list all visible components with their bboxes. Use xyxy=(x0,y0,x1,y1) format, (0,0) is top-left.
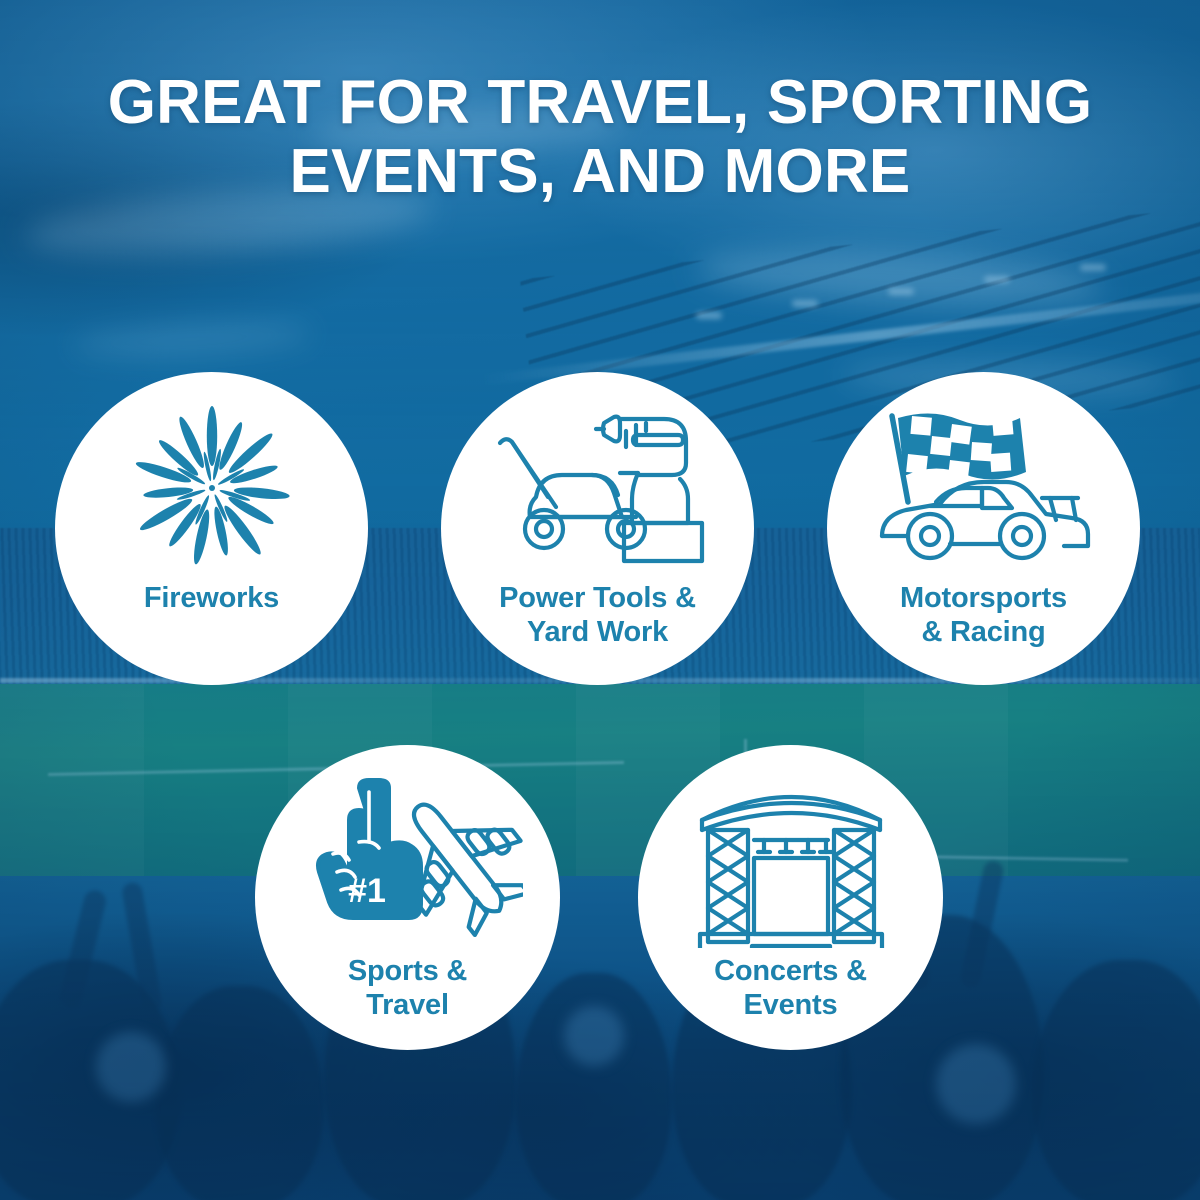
page-title: GREAT FOR TRAVEL, SPORTING EVENTS, AND M… xyxy=(0,68,1200,207)
lawn-mower-and-drill-icon xyxy=(478,406,718,576)
foam-finger-and-airplane-icon: #1 xyxy=(293,775,523,951)
headline-line-1: GREAT FOR TRAVEL, SPORTING xyxy=(70,68,1130,137)
foam-finger-number: #1 xyxy=(348,872,386,910)
category-bubble-power-tools[interactable]: Power Tools & Yard Work xyxy=(441,372,754,685)
concert-stage-icon xyxy=(686,775,896,951)
category-label: Motorsports & Racing xyxy=(900,582,1067,649)
category-label: Concerts & Events xyxy=(714,955,867,1022)
category-label-line: Travel xyxy=(348,989,467,1023)
category-bubble-sports-travel[interactable]: #1 xyxy=(255,745,560,1050)
headline-line-2: EVENTS, AND MORE xyxy=(70,137,1130,206)
category-label-line: Events xyxy=(714,989,867,1023)
promo-poster: GREAT FOR TRAVEL, SPORTING EVENTS, AND M… xyxy=(0,0,1200,1200)
category-label: Power Tools & Yard Work xyxy=(499,582,696,649)
category-label: Fireworks xyxy=(144,582,279,616)
checkered-flag-and-race-car-icon xyxy=(864,406,1104,576)
category-bubble-motorsports[interactable]: Motorsports & Racing xyxy=(827,372,1140,685)
category-label-line: Fireworks xyxy=(144,582,279,616)
category-label-line: Power Tools & xyxy=(499,582,696,616)
category-label-line: Sports & xyxy=(348,955,467,989)
category-bubble-fireworks[interactable]: Fireworks xyxy=(55,372,368,685)
category-label: Sports & Travel xyxy=(348,955,467,1022)
category-label-line: Concerts & xyxy=(714,955,867,989)
category-label-line: Yard Work xyxy=(499,616,696,650)
category-label-line: & Racing xyxy=(900,616,1067,650)
category-label-line: Motorsports xyxy=(900,582,1067,616)
fireworks-burst-icon xyxy=(117,406,307,576)
category-bubble-concerts-events[interactable]: Concerts & Events xyxy=(638,745,943,1050)
